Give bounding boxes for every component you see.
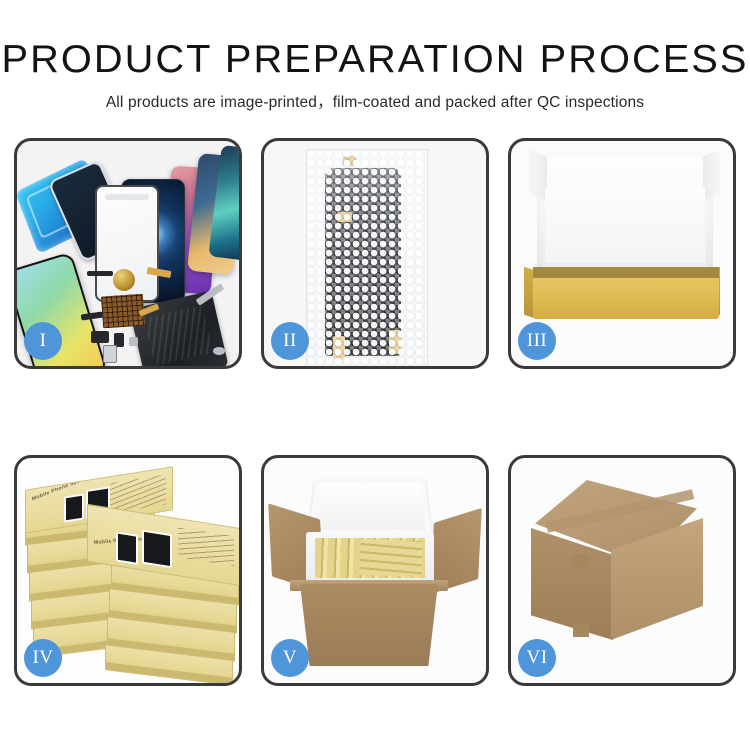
box-spec-lines xyxy=(178,527,234,566)
carton-tab xyxy=(573,554,589,568)
page-title: PRODUCT PREPARATION PROCESS xyxy=(0,38,750,82)
box-screen-image xyxy=(116,531,138,564)
process-step-2: II xyxy=(261,138,489,369)
spare-part xyxy=(213,347,225,355)
bubble-highlights xyxy=(307,150,427,366)
spare-part xyxy=(129,337,138,346)
spare-part xyxy=(87,271,113,276)
step-badge-6: VI xyxy=(518,639,556,677)
packed-boxes-row xyxy=(359,539,422,577)
box-screen-image xyxy=(142,530,172,569)
step-badge-3: III xyxy=(518,322,556,360)
box-screen-image xyxy=(64,493,84,522)
carton-tab xyxy=(573,624,589,637)
foam-box-lid xyxy=(308,479,432,535)
process-step-5: V xyxy=(261,455,489,686)
step-badge-1: I xyxy=(24,322,62,360)
box-lid-inner xyxy=(545,187,705,263)
process-step-1: I xyxy=(14,138,242,369)
process-step-grid: I II xyxy=(14,138,736,683)
process-step-3: III xyxy=(508,138,736,369)
process-step-4: Mobile Phone Spare Parts Mobile Phone Sp… xyxy=(14,455,242,686)
retail-box-stack: Mobile Phone Spare Parts Mobile Phone Sp… xyxy=(25,480,237,672)
spare-part xyxy=(103,345,117,363)
box-spec-lines xyxy=(110,474,166,513)
carton-front-panel xyxy=(300,584,438,666)
product-preparation-infographic: PRODUCT PREPARATION PROCESS All products… xyxy=(0,0,750,750)
page-subtitle: All products are image-printed，film-coat… xyxy=(0,93,750,113)
process-step-6: VI xyxy=(508,455,736,686)
yellow-mailer-box xyxy=(533,267,719,319)
step-badge-5: V xyxy=(271,639,309,677)
step-badge-4: IV xyxy=(24,639,62,677)
bubble-wrap-bag xyxy=(306,149,428,367)
step-badge-2: II xyxy=(271,322,309,360)
spare-part xyxy=(91,331,109,343)
speaker-module-part xyxy=(113,269,135,291)
header: PRODUCT PREPARATION PROCESS All products… xyxy=(0,0,750,113)
